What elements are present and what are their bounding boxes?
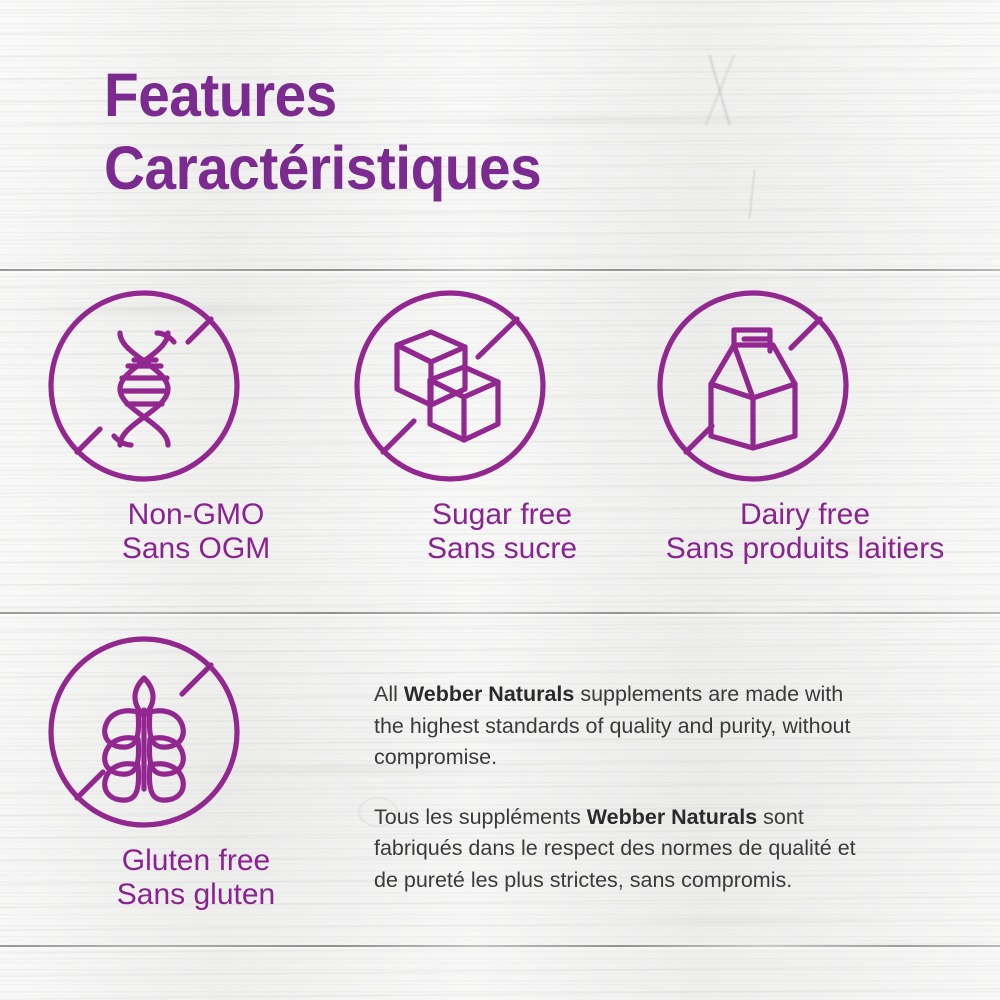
statement-paragraph-fr: Tous les suppléments Webber Naturals son… [374,802,874,897]
feature-sugar-free: Sugar free Sans sucre [352,288,652,566]
feature-label: Gluten free Sans gluten [46,844,346,912]
statement-fr-before: Tous les suppléments [374,805,587,829]
page-title: Features Caractéristiques [104,66,574,199]
feature-label-fr: Sans sucre [352,532,652,566]
feature-label-fr: Sans gluten [46,878,346,912]
brand-name-fr: Webber Naturals [587,805,757,829]
feature-label-en: Non-GMO [46,498,346,532]
no-sugar-cubes-icon [352,288,652,484]
plank-seam [0,611,1000,614]
no-dairy-milk-carton-icon [655,288,955,484]
wood-knot-mark [700,55,740,125]
feature-label-fr: Sans produits laitiers [655,532,955,566]
plank-seam [0,944,1000,947]
feature-gluten-free: Gluten free Sans gluten [46,634,346,912]
no-gluten-wheat-icon [46,634,346,830]
feature-dairy-free: Dairy free Sans produits laitiers [655,288,955,566]
brand-name-en: Webber Naturals [404,682,574,706]
feature-panel: Features Caractéristiques [0,0,1000,1000]
feature-label-en: Gluten free [46,844,346,878]
title-line-fr: Caractéristiques [104,139,541,199]
feature-label: Sugar free Sans sucre [352,498,652,566]
feature-label-en: Dairy free [655,498,955,532]
statement-en-before: All [374,682,404,706]
no-gmo-dna-icon [46,288,346,484]
feature-label: Non-GMO Sans OGM [46,498,346,566]
wood-knot-mark [735,170,769,218]
plank-seam [0,268,1000,271]
feature-label-fr: Sans OGM [46,532,346,566]
feature-label-en: Sugar free [352,498,652,532]
brand-statement: All Webber Naturals supplements are made… [374,679,874,897]
feature-non-gmo: Non-GMO Sans OGM [46,288,346,566]
feature-label: Dairy free Sans produits laitiers [655,498,955,566]
title-line-en: Features [104,66,541,126]
statement-paragraph-en: All Webber Naturals supplements are made… [374,679,874,774]
